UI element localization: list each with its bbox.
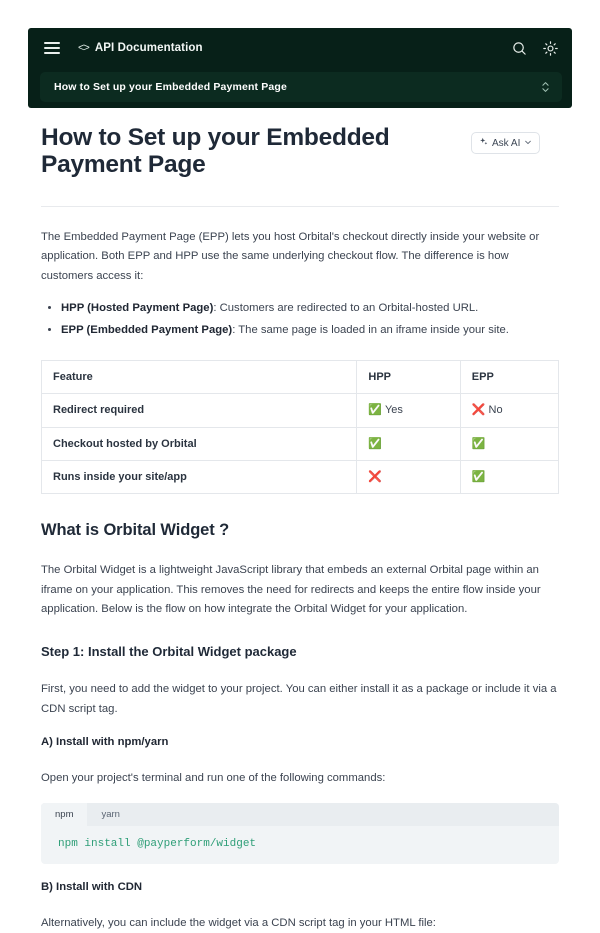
widget-paragraph: The Orbital Widget is a lightweight Java… xyxy=(41,561,559,619)
comparison-table: Feature HPP EPP Redirect required ✅ Yes … xyxy=(41,360,559,494)
code-block: npm yarn npm install @payperform/widget xyxy=(41,803,559,864)
cell-hpp: ✅ xyxy=(357,427,460,460)
chevron-up-down-icon[interactable] xyxy=(541,80,550,94)
sparkle-icon xyxy=(479,137,488,149)
access-bullet-list: HPP (Hosted Payment Page): Customers are… xyxy=(41,299,559,340)
intro-paragraph: The Embedded Payment Page (EPP) lets you… xyxy=(41,228,559,286)
title-row: How to Set up your Embedded Payment Page… xyxy=(41,124,559,179)
code-tab-bar: npm yarn xyxy=(41,803,559,826)
table-header-row: Feature HPP EPP xyxy=(42,360,559,393)
tab-yarn[interactable]: yarn xyxy=(87,803,133,826)
code-command[interactable]: npm install @payperform/widget xyxy=(41,826,559,864)
cdn-instructions: Alternatively, you can include the widge… xyxy=(41,914,559,933)
chevron-down-icon xyxy=(524,138,532,149)
check-mark-icon: ✅ xyxy=(472,437,486,450)
step1-paragraph: First, you need to add the widget to you… xyxy=(41,680,559,719)
cross-mark-icon: ❌ xyxy=(472,403,486,416)
cell-hpp-label: Yes xyxy=(385,404,403,416)
sun-icon[interactable] xyxy=(543,41,558,56)
check-mark-icon: ✅ xyxy=(472,470,486,483)
top-header-bar: <> API Documentation xyxy=(28,28,572,108)
table-row: Redirect required ✅ Yes ❌ No xyxy=(42,394,559,427)
table-row: Runs inside your site/app ❌ ✅ xyxy=(42,460,559,493)
bullet-term: EPP (Embedded Payment Page) xyxy=(61,324,232,336)
subheading-cdn: B) Install with CDN xyxy=(41,881,559,893)
title-divider xyxy=(41,206,559,207)
npm-instructions: Open your project's terminal and run one… xyxy=(41,769,559,788)
brand-title: API Documentation xyxy=(95,42,203,54)
header-actions xyxy=(512,41,558,56)
check-mark-icon: ✅ xyxy=(368,403,382,416)
column-header-epp: EPP xyxy=(460,360,558,393)
table-row: Checkout hosted by Orbital ✅ ✅ xyxy=(42,427,559,460)
subheading-npm-yarn: A) Install with npm/yarn xyxy=(41,736,559,748)
cell-epp: ✅ xyxy=(460,427,558,460)
cell-feature: Checkout hosted by Orbital xyxy=(42,427,357,460)
cell-hpp: ❌ xyxy=(357,460,460,493)
cell-hpp: ✅ Yes xyxy=(357,394,460,427)
bullet-term: HPP (Hosted Payment Page) xyxy=(61,302,213,314)
list-item: EPP (Embedded Payment Page): The same pa… xyxy=(61,321,559,340)
search-icon[interactable] xyxy=(512,41,527,56)
hamburger-icon[interactable] xyxy=(44,42,60,54)
step1-heading: Step 1: Install the Orbital Widget packa… xyxy=(41,644,559,659)
ask-ai-button[interactable]: Ask AI xyxy=(471,132,540,154)
column-header-feature: Feature xyxy=(42,360,357,393)
cell-epp: ❌ No xyxy=(460,394,558,427)
bullet-text: : The same page is loaded in an iframe i… xyxy=(232,324,509,336)
documentation-page: <> API Documentation xyxy=(0,0,600,850)
check-mark-icon: ✅ xyxy=(368,437,382,450)
cross-mark-icon: ❌ xyxy=(368,470,382,483)
column-header-hpp: HPP xyxy=(357,360,460,393)
code-brackets-icon: <> xyxy=(78,42,89,54)
page-title: How to Set up your Embedded Payment Page xyxy=(41,124,461,179)
cell-epp-label: No xyxy=(489,404,503,416)
header-row: <> API Documentation xyxy=(28,28,572,68)
section-heading-widget: What is Orbital Widget ? xyxy=(41,521,559,540)
bullet-text: : Customers are redirected to an Orbital… xyxy=(213,302,478,314)
breadcrumb-bar[interactable]: How to Set up your Embedded Payment Page xyxy=(40,72,562,102)
cell-feature: Runs inside your site/app xyxy=(42,460,357,493)
tab-npm[interactable]: npm xyxy=(41,803,87,826)
breadcrumb-title: How to Set up your Embedded Payment Page xyxy=(54,81,287,93)
cell-feature: Redirect required xyxy=(42,394,357,427)
list-item: HPP (Hosted Payment Page): Customers are… xyxy=(61,299,559,318)
article-content: How to Set up your Embedded Payment Page… xyxy=(41,124,559,933)
cell-epp: ✅ xyxy=(460,460,558,493)
ask-ai-label: Ask AI xyxy=(492,138,520,149)
